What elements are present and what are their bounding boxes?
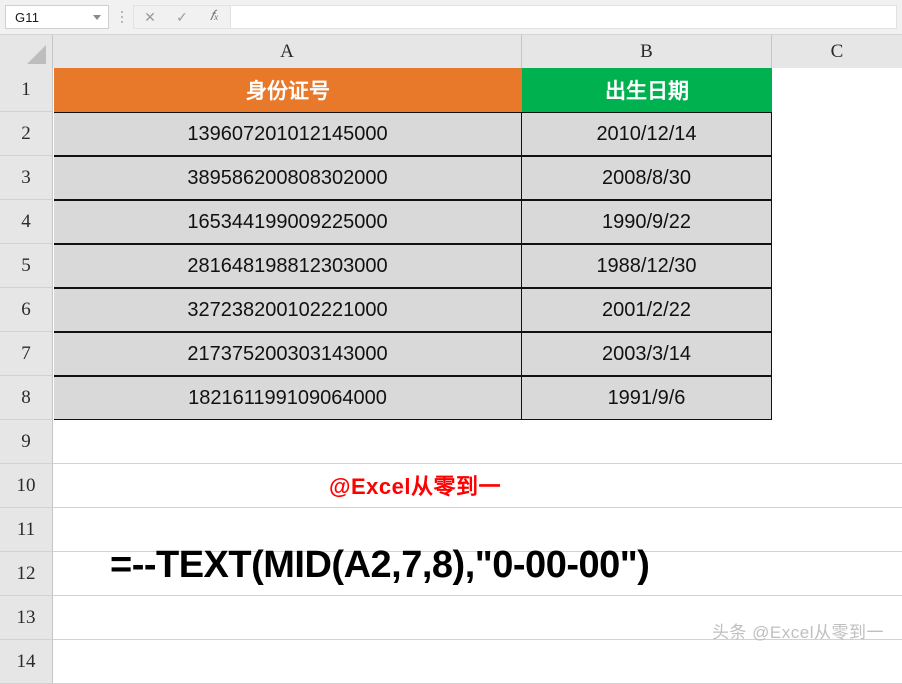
formula-input[interactable] [230,5,897,29]
row-header-14[interactable]: 14 [0,640,53,684]
row-header-10[interactable]: 10 [0,464,53,508]
column-header-b[interactable]: B [522,35,772,68]
cancel-icon[interactable]: ✕ [134,6,166,28]
row-header-11[interactable]: 11 [0,508,53,552]
formula-bar: G11 ✕ ✓ 𝑓x [0,0,902,35]
row-header-4[interactable]: 4 [0,200,53,244]
name-box[interactable]: G11 [5,5,109,29]
cell-A1-header[interactable]: 身份证号 [54,68,522,112]
cell-B5[interactable]: 1988/12/30 [522,244,772,288]
cell-A5[interactable]: 281648198812303000 [54,244,522,288]
column-header-band: A B C [0,35,902,68]
formula-annotation-text: =--TEXT(MID(A2,7,8),"0-00-00") [110,535,790,595]
row-header-5[interactable]: 5 [0,244,53,288]
formula-bar-buttons: ✕ ✓ 𝑓x [133,5,230,29]
spreadsheet-grid: A B C 1 2 3 4 5 6 7 8 9 10 11 12 13 14 身… [0,35,902,675]
grid-line-row12 [53,595,902,596]
watermark-text: 头条 @Excel从零到一 [712,618,884,643]
cell-B1-header[interactable]: 出生日期 [522,68,772,112]
row-header-1[interactable]: 1 [0,68,53,112]
select-all-corner-button[interactable] [0,35,53,68]
cell-B3[interactable]: 2008/8/30 [522,156,772,200]
fx-icon[interactable]: 𝑓x [198,6,230,28]
row-header-12[interactable]: 12 [0,552,53,596]
grid-line-row10 [53,507,902,508]
cell-A4[interactable]: 165344199009225000 [54,200,522,244]
name-box-value: G11 [15,10,93,25]
chevron-down-icon[interactable] [93,15,101,20]
cell-A2[interactable]: 139607201012145000 [54,112,522,156]
cell-B7[interactable]: 2003/3/14 [522,332,772,376]
cell-A6[interactable]: 327238200102221000 [54,288,522,332]
cell-A3[interactable]: 389586200808302000 [54,156,522,200]
cell-B8[interactable]: 1991/9/6 [522,376,772,420]
row-header-6[interactable]: 6 [0,288,53,332]
row-header-2[interactable]: 2 [0,112,53,156]
row-header-7[interactable]: 7 [0,332,53,376]
cell-A7[interactable]: 217375200303143000 [54,332,522,376]
row-header-3[interactable]: 3 [0,156,53,200]
row-header-8[interactable]: 8 [0,376,53,420]
grid-line-row9 [53,463,902,464]
cell-B2[interactable]: 2010/12/14 [522,112,772,156]
vertical-dots-separator [115,5,129,29]
column-header-a[interactable]: A [53,35,522,68]
column-header-c[interactable]: C [772,35,902,68]
cell-B6[interactable]: 2001/2/22 [522,288,772,332]
brand-note-text: @Excel从零到一 [300,465,530,505]
row-header-13[interactable]: 13 [0,596,53,640]
row-header-9[interactable]: 9 [0,420,53,464]
cell-A8[interactable]: 182161199109064000 [54,376,522,420]
enter-icon[interactable]: ✓ [166,6,198,28]
cell-B4[interactable]: 1990/9/22 [522,200,772,244]
